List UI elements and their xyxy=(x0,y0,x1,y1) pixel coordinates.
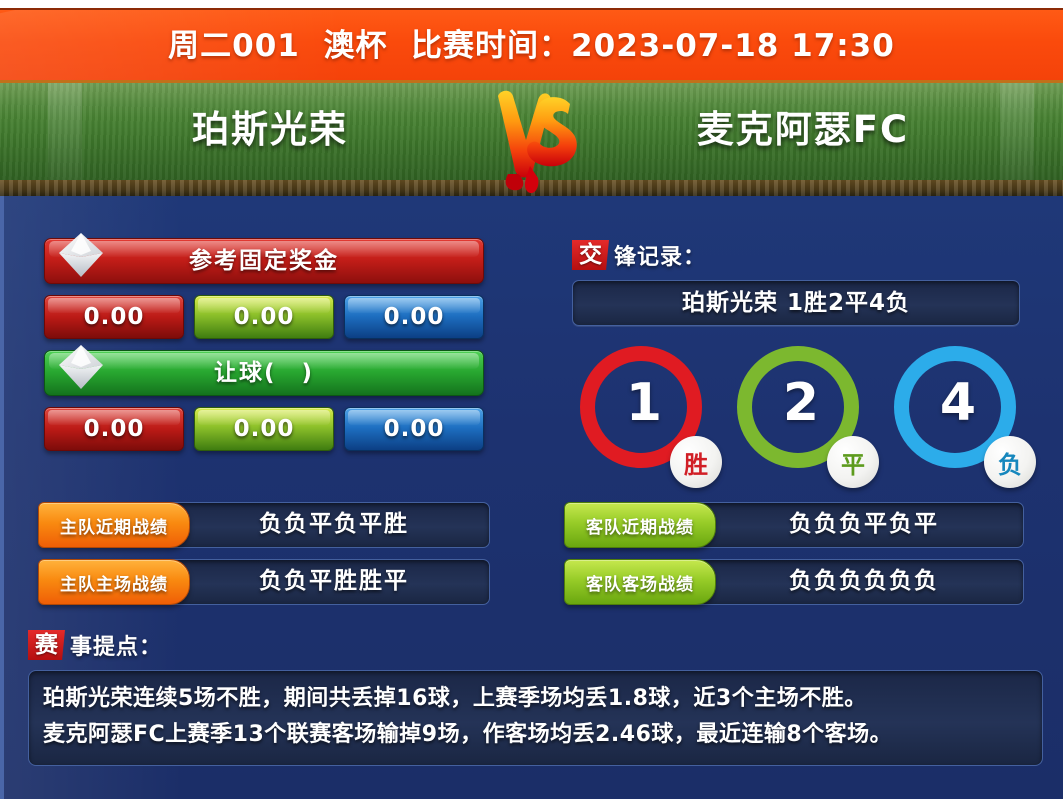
away-away-form-row: 客队客场战绩 负负负负负负 xyxy=(564,559,1024,603)
ring-losses-value: 4 xyxy=(940,377,976,429)
home-home-form-row: 主队主场战绩 负负平胜胜平 xyxy=(38,559,490,603)
away-away-form-value: 负负负负负负 xyxy=(704,559,1024,603)
fixed-bonus-title: 参考固定奖金 xyxy=(45,239,483,283)
handicap-title: 让球( ) xyxy=(45,351,483,395)
odds-panel: 参考固定奖金 0.00 0.00 0.00 xyxy=(44,238,484,462)
h2h-section-label: 交 锋记录： xyxy=(572,238,1020,272)
h2h-summary-row: 珀斯光荣 1胜2平4负 xyxy=(572,280,1020,326)
h2h-label-text: 锋记录： xyxy=(614,239,706,271)
home-recent-form-label: 主队近期战绩 xyxy=(38,502,190,548)
notes-section-label: 赛 事提点： xyxy=(28,628,1043,662)
fixed-bonus-header: 参考固定奖金 xyxy=(44,238,484,284)
fixed-bonus-odds-row: 0.00 0.00 0.00 xyxy=(44,295,484,339)
notes-line-home: 珀斯光荣连续5场不胜，期间共丢掉16球，上赛季场均丢1.8球，近3个主场不胜。 xyxy=(43,681,1028,717)
notes-box: 珀斯光荣连续5场不胜，期间共丢掉16球，上赛季场均丢1.8球，近3个主场不胜。 … xyxy=(28,670,1043,766)
h2h-rings: 1 胜 2 平 4 负 xyxy=(572,340,1020,492)
odds-value: 0.00 xyxy=(345,408,483,450)
home-home-form-value: 负负平胜胜平 xyxy=(178,559,490,603)
odds-value: 0.00 xyxy=(195,296,333,338)
away-team-name: 麦克阿瑟FC xyxy=(633,80,973,180)
handicap-button-away[interactable]: 0.00 xyxy=(344,407,484,451)
home-recent-form-value: 负负平负平胜 xyxy=(178,502,490,546)
h2h-panel: 交 锋记录： 珀斯光荣 1胜2平4负 1 胜 2 平 4 负 xyxy=(572,238,1020,492)
header-bar: 周二001 澳杯 比赛时间：2023-07-18 17:30 xyxy=(0,8,1063,82)
odds-value: 0.00 xyxy=(195,408,333,450)
home-home-form-label: 主队主场战绩 xyxy=(38,559,190,605)
ring-draws-value: 2 xyxy=(783,377,819,429)
header-title: 周二001 澳杯 比赛时间：2023-07-18 17:30 xyxy=(0,10,1063,82)
notes-line-away: 麦克阿瑟FC上赛季13个联赛客场输掉9场，作客场均丢2.46球，最近连输8个客场… xyxy=(43,717,1028,753)
odds-value: 0.00 xyxy=(345,296,483,338)
odds-button-draw[interactable]: 0.00 xyxy=(194,295,334,339)
handicap-button-draw[interactable]: 0.00 xyxy=(194,407,334,451)
ring-wins-badge: 胜 xyxy=(670,436,722,488)
match-preview-screen: 周二001 澳杯 比赛时间：2023-07-18 17:30 珀斯光荣 麦克阿瑟… xyxy=(0,0,1063,799)
odds-button-home[interactable]: 0.00 xyxy=(44,295,184,339)
handicap-odds-row: 0.00 0.00 0.00 xyxy=(44,407,484,451)
away-recent-form-value: 负负负平负平 xyxy=(704,502,1024,546)
notes-tag: 赛 xyxy=(28,630,65,660)
h2h-tag: 交 xyxy=(572,240,609,270)
away-away-form-label: 客队客场战绩 xyxy=(564,559,716,605)
away-form-group: 客队近期战绩 负负负平负平 客队客场战绩 负负负负负负 xyxy=(564,502,1024,616)
h2h-summary-text: 珀斯光荣 1胜2平4负 xyxy=(573,281,1019,325)
ring-draws-badge: 平 xyxy=(827,436,879,488)
home-recent-form-row: 主队近期战绩 负负平负平胜 xyxy=(38,502,490,546)
notes-label-text: 事提点： xyxy=(70,629,162,661)
home-form-group: 主队近期战绩 负负平负平胜 主队主场战绩 负负平胜胜平 xyxy=(38,502,490,616)
odds-value: 0.00 xyxy=(45,296,183,338)
odds-button-away[interactable]: 0.00 xyxy=(344,295,484,339)
handicap-header: 让球( ) xyxy=(44,350,484,396)
ring-wins-value: 1 xyxy=(626,377,662,429)
odds-value: 0.00 xyxy=(45,408,183,450)
diamond-icon xyxy=(53,339,109,395)
away-recent-form-row: 客队近期战绩 负负负平负平 xyxy=(564,502,1024,546)
match-notes: 赛 事提点： 珀斯光荣连续5场不胜，期间共丢掉16球，上赛季场均丢1.8球，近3… xyxy=(28,628,1043,766)
handicap-button-home[interactable]: 0.00 xyxy=(44,407,184,451)
content-area: 参考固定奖金 0.00 0.00 0.00 xyxy=(0,196,1063,799)
ring-losses-badge: 负 xyxy=(984,436,1036,488)
diamond-icon xyxy=(53,227,109,283)
home-team-name: 珀斯光荣 xyxy=(110,80,430,180)
vs-icon xyxy=(478,78,588,196)
away-recent-form-label: 客队近期战绩 xyxy=(564,502,716,548)
